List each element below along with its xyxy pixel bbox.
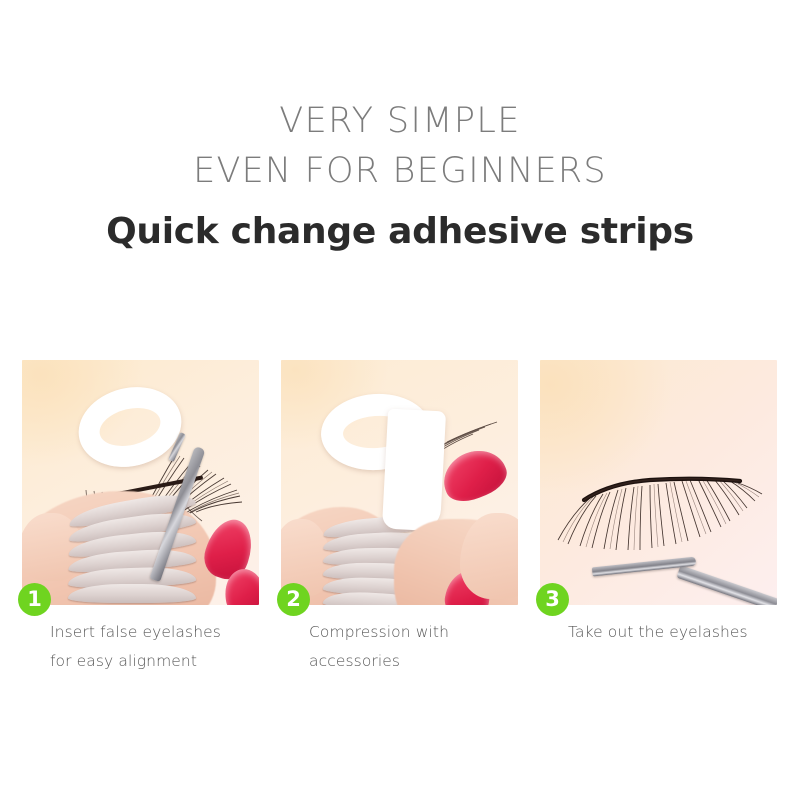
header-block: VERY SIMPLE EVEN FOR BEGINNERS Quick cha… [0,96,800,254]
step-caption-2: Compression with accessories [309,618,519,676]
applicator-tab [382,409,446,532]
caption-line: accessories [309,647,519,676]
lash-band-item [68,584,196,603]
step-badge-3: 3 [536,583,569,616]
page-title: Quick change adhesive strips [0,210,800,254]
caption-line: Take out the eyelashes [568,618,778,647]
eyelash-strip-svg [550,456,770,572]
step-caption-3: Take out the eyelashes [568,618,778,647]
step-1-photo [22,360,259,605]
steps-row: 1 Insert false eyelashes for easy alignm… [22,360,778,605]
kicker-line-2: EVEN FOR BEGINNERS [0,146,800,196]
step-2: 2 Compression with accessories [281,360,518,605]
caption-line: for easy alignment [50,647,260,676]
step-caption-1: Insert false eyelashes for easy alignmen… [50,618,260,676]
step-1: 1 Insert false eyelashes for easy alignm… [22,360,259,605]
step-3: 3 Take out the eyelashes [540,360,777,605]
step-badge-2: 2 [277,583,310,616]
step-badge-1: 1 [18,583,51,616]
caption-line: Insert false eyelashes [50,618,260,647]
step-3-photo [540,360,777,605]
kicker-line-1: VERY SIMPLE [0,96,800,146]
step-2-photo [281,360,518,605]
caption-line: Compression with [309,618,519,647]
eyelash-strip [550,456,770,572]
